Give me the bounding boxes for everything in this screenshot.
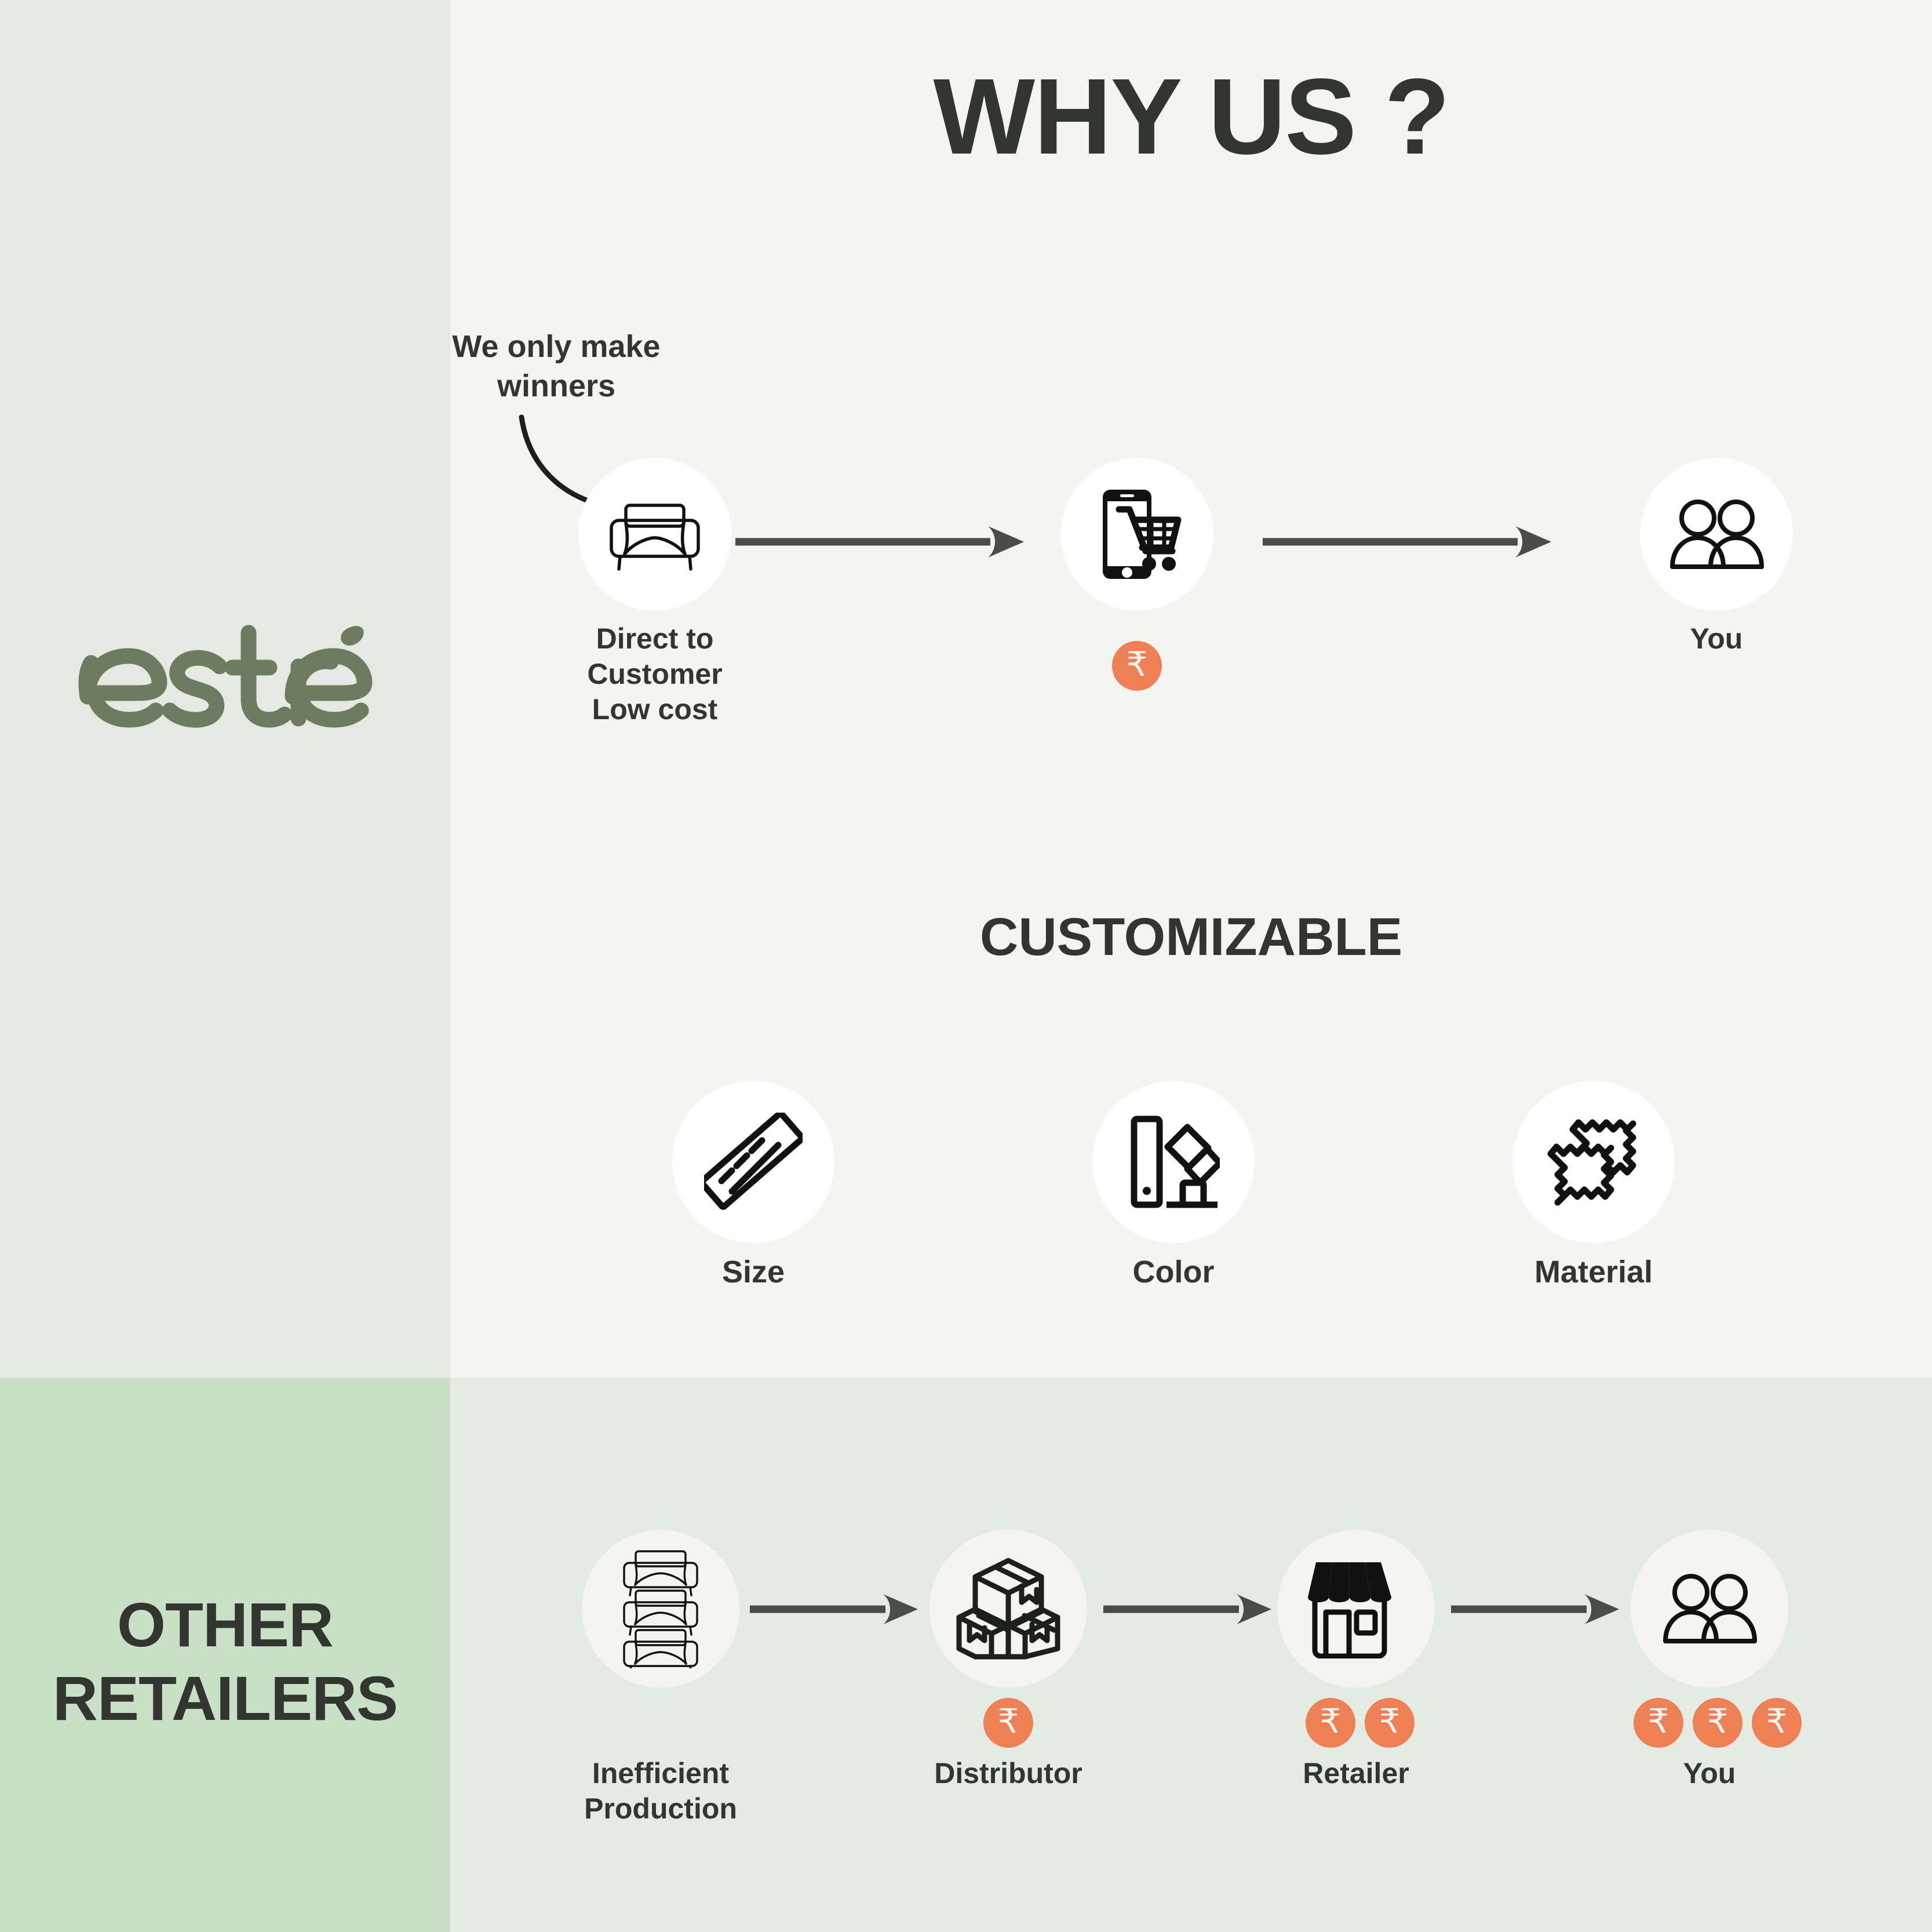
flow-node-mobile-shopping[interactable] — [1060, 458, 1213, 611]
flow-arrow-1-icon — [733, 522, 1029, 562]
flow-node-you-bottom[interactable]: ₹ ₹ ₹ You — [1628, 1530, 1791, 1791]
two-people-icon-disc — [1631, 1530, 1788, 1687]
other-retailers-heading: OTHER RETAILERS — [0, 1588, 450, 1736]
flow-node-label: Inefficient Production — [579, 1756, 742, 1827]
sofa-icon-disc — [578, 458, 731, 611]
flow-arrow-2-icon — [1260, 522, 1556, 562]
customizable-option-material[interactable]: Material — [1512, 1081, 1675, 1292]
two-people-icon-disc — [1640, 458, 1793, 611]
customizable-heading: CUSTOMIZABLE — [450, 907, 1932, 968]
ruler-icon-disc — [672, 1081, 834, 1243]
estre-wordmark-icon — [75, 620, 376, 736]
page-title: WHY US ? — [450, 58, 1932, 177]
flow-node-retailer[interactable]: ₹ ₹ Retailer — [1275, 1530, 1437, 1791]
retail-arrow-3-icon — [1449, 1591, 1623, 1628]
callout-text: We only make winners — [406, 327, 707, 406]
flow-node-inefficient-production[interactable]: Inefficient Production — [579, 1530, 742, 1827]
customizable-option-label: Material — [1512, 1253, 1675, 1292]
flow-node-label: You — [1628, 1756, 1791, 1791]
customizable-option-color[interactable]: Color — [1092, 1081, 1255, 1292]
two-people-icon — [1661, 1570, 1758, 1647]
rupee-badge: ₹ — [983, 1698, 1033, 1748]
boxes-icon-disc — [929, 1530, 1087, 1687]
mobile-cart-icon — [1085, 483, 1189, 586]
flow-node-label: Distributor — [927, 1756, 1089, 1791]
boxes-icon — [953, 1556, 1063, 1661]
flow-node-label: You — [1640, 621, 1793, 657]
two-people-icon — [1668, 496, 1765, 573]
storefront-icon — [1303, 1559, 1409, 1658]
rupee-badges-retailer: ₹ ₹ — [1306, 1698, 1415, 1748]
retail-arrow-1-icon — [748, 1591, 921, 1628]
rupee-badge: ₹ — [1693, 1698, 1743, 1748]
rupee-badges-you: ₹ ₹ ₹ — [1634, 1698, 1802, 1748]
sofa-icon — [604, 496, 706, 573]
flow-node-label: Direct to Customer Low cost — [545, 621, 765, 727]
rupee-badge: ₹ — [1112, 641, 1162, 691]
fabric-swatch-icon — [1541, 1110, 1646, 1214]
rupee-badges-mobile: ₹ — [1112, 641, 1162, 691]
flow-node-you-top[interactable]: You — [1640, 458, 1793, 657]
customizable-option-label: Color — [1092, 1253, 1255, 1292]
rupee-badge: ₹ — [1752, 1698, 1802, 1748]
leaf-accent-icon — [341, 626, 364, 646]
rupee-badge: ₹ — [1306, 1698, 1355, 1748]
stacked-sofas-icon — [617, 1549, 704, 1668]
flow-node-label: Retailer — [1275, 1756, 1437, 1791]
customizable-option-label: Size — [672, 1253, 834, 1292]
infographic-canvas: WHY US ? We only make winners Direct to … — [0, 0, 1932, 1932]
flow-node-direct-to-customer[interactable]: Direct to Customer Low cost — [545, 458, 765, 727]
storefront-icon-disc — [1277, 1530, 1435, 1687]
flow-node-distributor[interactable]: ₹ Distributor — [927, 1530, 1089, 1791]
retail-arrow-2-icon — [1101, 1591, 1275, 1628]
rupee-badge: ₹ — [1365, 1698, 1415, 1748]
color-swatch-icon — [1127, 1113, 1220, 1211]
rupee-badge: ₹ — [1634, 1698, 1683, 1748]
brand-logo — [0, 603, 450, 753]
ruler-icon — [704, 1113, 803, 1211]
fabric-swatch-icon-disc — [1512, 1081, 1675, 1243]
mobile-cart-icon-disc — [1060, 458, 1213, 611]
rupee-badges-distributor: ₹ — [983, 1698, 1033, 1748]
color-swatch-icon-disc — [1092, 1081, 1255, 1243]
stacked-sofas-icon-disc — [582, 1530, 739, 1687]
customizable-option-size[interactable]: Size — [672, 1081, 834, 1292]
